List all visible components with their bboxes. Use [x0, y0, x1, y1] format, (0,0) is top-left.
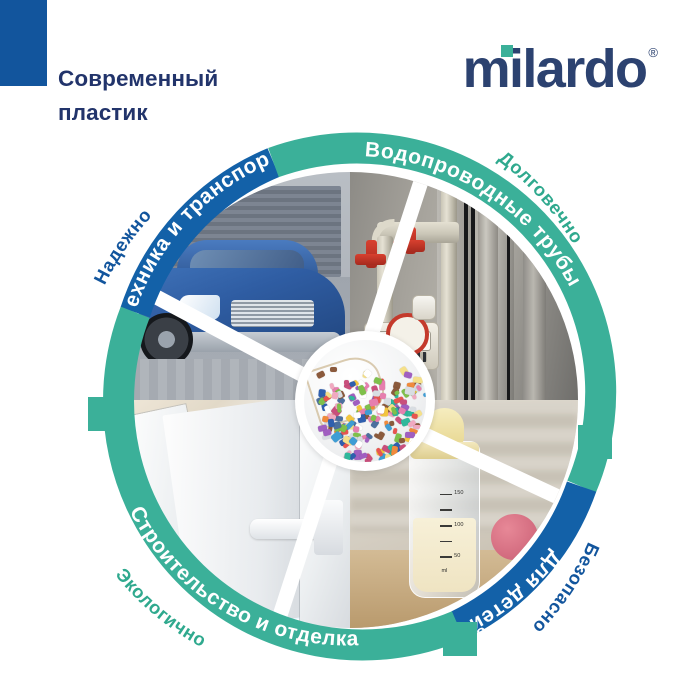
accent-square-bottom [443, 622, 477, 656]
plastic-granule [352, 426, 359, 433]
plastic-granule [344, 380, 349, 385]
plastic-granule [337, 403, 341, 412]
center-badge [295, 331, 435, 471]
logo-i-dot-icon [501, 45, 513, 57]
plastic-granule [398, 438, 405, 444]
corner-accent-block [0, 0, 47, 86]
brand-wordmark: milardo [463, 42, 647, 96]
infographic-poster: Современный пластик milardo ® [0, 0, 700, 700]
plastic-granule [399, 444, 408, 454]
plastic-granule [407, 438, 416, 447]
plastic-granule [364, 409, 372, 415]
headline-line-1: Современный [58, 62, 348, 96]
plastic-granule [411, 413, 418, 419]
plastic-granule [330, 367, 337, 372]
plastic-granule [377, 431, 386, 441]
headline-line-2: пластик [58, 96, 348, 130]
plastic-granules-photo [304, 340, 426, 462]
plastic-granule [410, 406, 417, 412]
plastic-granule [377, 405, 385, 414]
plastic-granule [404, 432, 414, 439]
plastic-granule [384, 454, 391, 460]
plastic-granule [344, 453, 351, 462]
plastic-granule [353, 411, 361, 418]
plastic-granule [372, 390, 380, 397]
accent-square-right [578, 425, 612, 459]
plastic-granule [328, 418, 335, 427]
plastic-granule [422, 392, 426, 397]
registered-trademark-icon: ® [648, 46, 658, 59]
accent-square-left [88, 397, 122, 431]
plastic-granule [380, 393, 386, 399]
page-title: Современный пластик [58, 62, 348, 130]
plastic-granule [403, 371, 412, 379]
plastic-granule [404, 386, 415, 396]
brand-logo: milardo ® [463, 42, 658, 96]
plastic-granule [400, 399, 407, 405]
